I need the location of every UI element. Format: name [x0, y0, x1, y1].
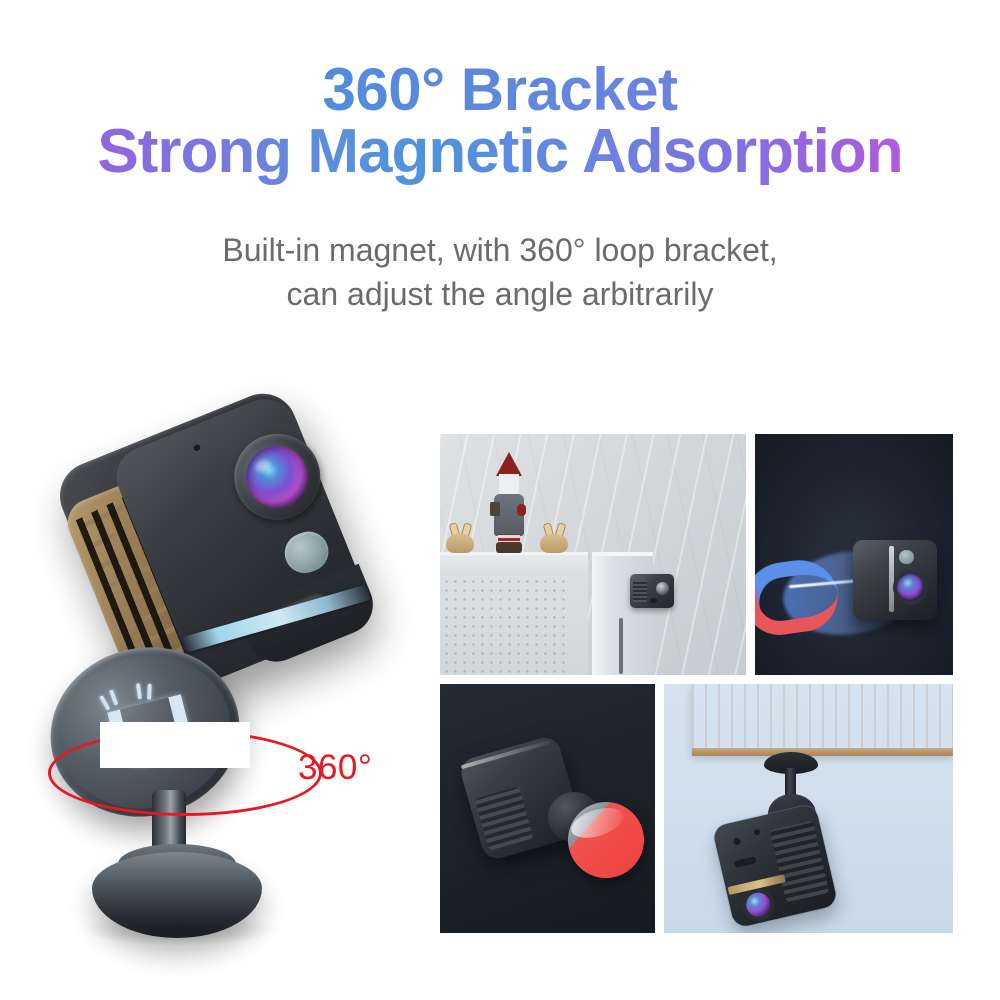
base-shadow — [82, 912, 277, 946]
gnome-lantern — [490, 502, 500, 516]
garden-gnome-figurine — [492, 452, 526, 552]
photo-ball-joint-magnet-mount — [440, 684, 655, 933]
white-cabinet — [440, 552, 588, 675]
bunny-body — [446, 534, 474, 553]
bunny-ornament — [446, 526, 474, 553]
mounted-camera — [630, 574, 674, 608]
camera-grille — [857, 552, 887, 604]
rotation-label: 360° — [298, 748, 372, 788]
camera-screw-dot — [733, 837, 741, 845]
photo-camera-on-door-frame — [440, 434, 746, 675]
gnome-hat — [496, 452, 522, 476]
gnome-hand — [517, 504, 526, 516]
desk-edge — [692, 748, 953, 756]
bunny-body — [540, 534, 568, 553]
usage-photo-grid — [440, 434, 953, 933]
camera-lens-ring — [221, 421, 333, 533]
subtitle-line-2: can adjust the angle arbitrarily — [0, 272, 1000, 316]
gnome-boots — [496, 542, 522, 553]
metal-door-frame — [592, 552, 653, 675]
magnet-ray — [109, 689, 118, 705]
camera-grille — [474, 786, 533, 851]
camera-lens — [656, 582, 669, 595]
photo-camera-under-desk — [664, 684, 953, 933]
photo-magnetic-attraction — [755, 434, 953, 675]
microphone-hole-icon — [192, 443, 201, 452]
subtitle-block: Built-in magnet, with 360° loop bracket,… — [0, 228, 1000, 316]
horseshoe-magnet-icon — [755, 556, 833, 629]
wooden-desk-surface — [692, 684, 953, 754]
hero-product-image: 360° — [40, 400, 440, 960]
motion-sensor — [899, 550, 914, 564]
subtitle-line-1: Built-in magnet, with 360° loop bracket, — [0, 228, 1000, 272]
product-feature-banner: 360° Bracket Strong Magnetic Adsorption … — [0, 0, 1000, 1000]
ellipse-occlusion-mask — [100, 722, 250, 768]
motion-sensor — [279, 526, 335, 580]
headline-block: 360° Bracket Strong Magnetic Adsorption — [0, 58, 1000, 186]
magnet-ray — [136, 683, 142, 699]
headline-line-1: 360° Bracket — [0, 58, 1000, 121]
headline-line-2: Strong Magnetic Adsorption — [0, 119, 1000, 186]
camera-screw-dot — [753, 829, 760, 836]
bunny-ornament — [540, 526, 568, 553]
door-handle — [619, 618, 623, 674]
camera-lens — [897, 574, 924, 601]
camera-button — [734, 856, 757, 868]
magnet-ray — [99, 695, 110, 711]
perforated-panel — [442, 577, 568, 675]
camera-grille — [770, 820, 830, 902]
camera-grille — [633, 580, 647, 602]
camera-edge-highlight — [889, 546, 894, 612]
camera-device — [853, 540, 937, 620]
camera-lens — [237, 437, 318, 518]
magnet-ray — [147, 684, 152, 700]
camera-lens — [744, 890, 773, 919]
camera-sensor — [650, 598, 657, 603]
